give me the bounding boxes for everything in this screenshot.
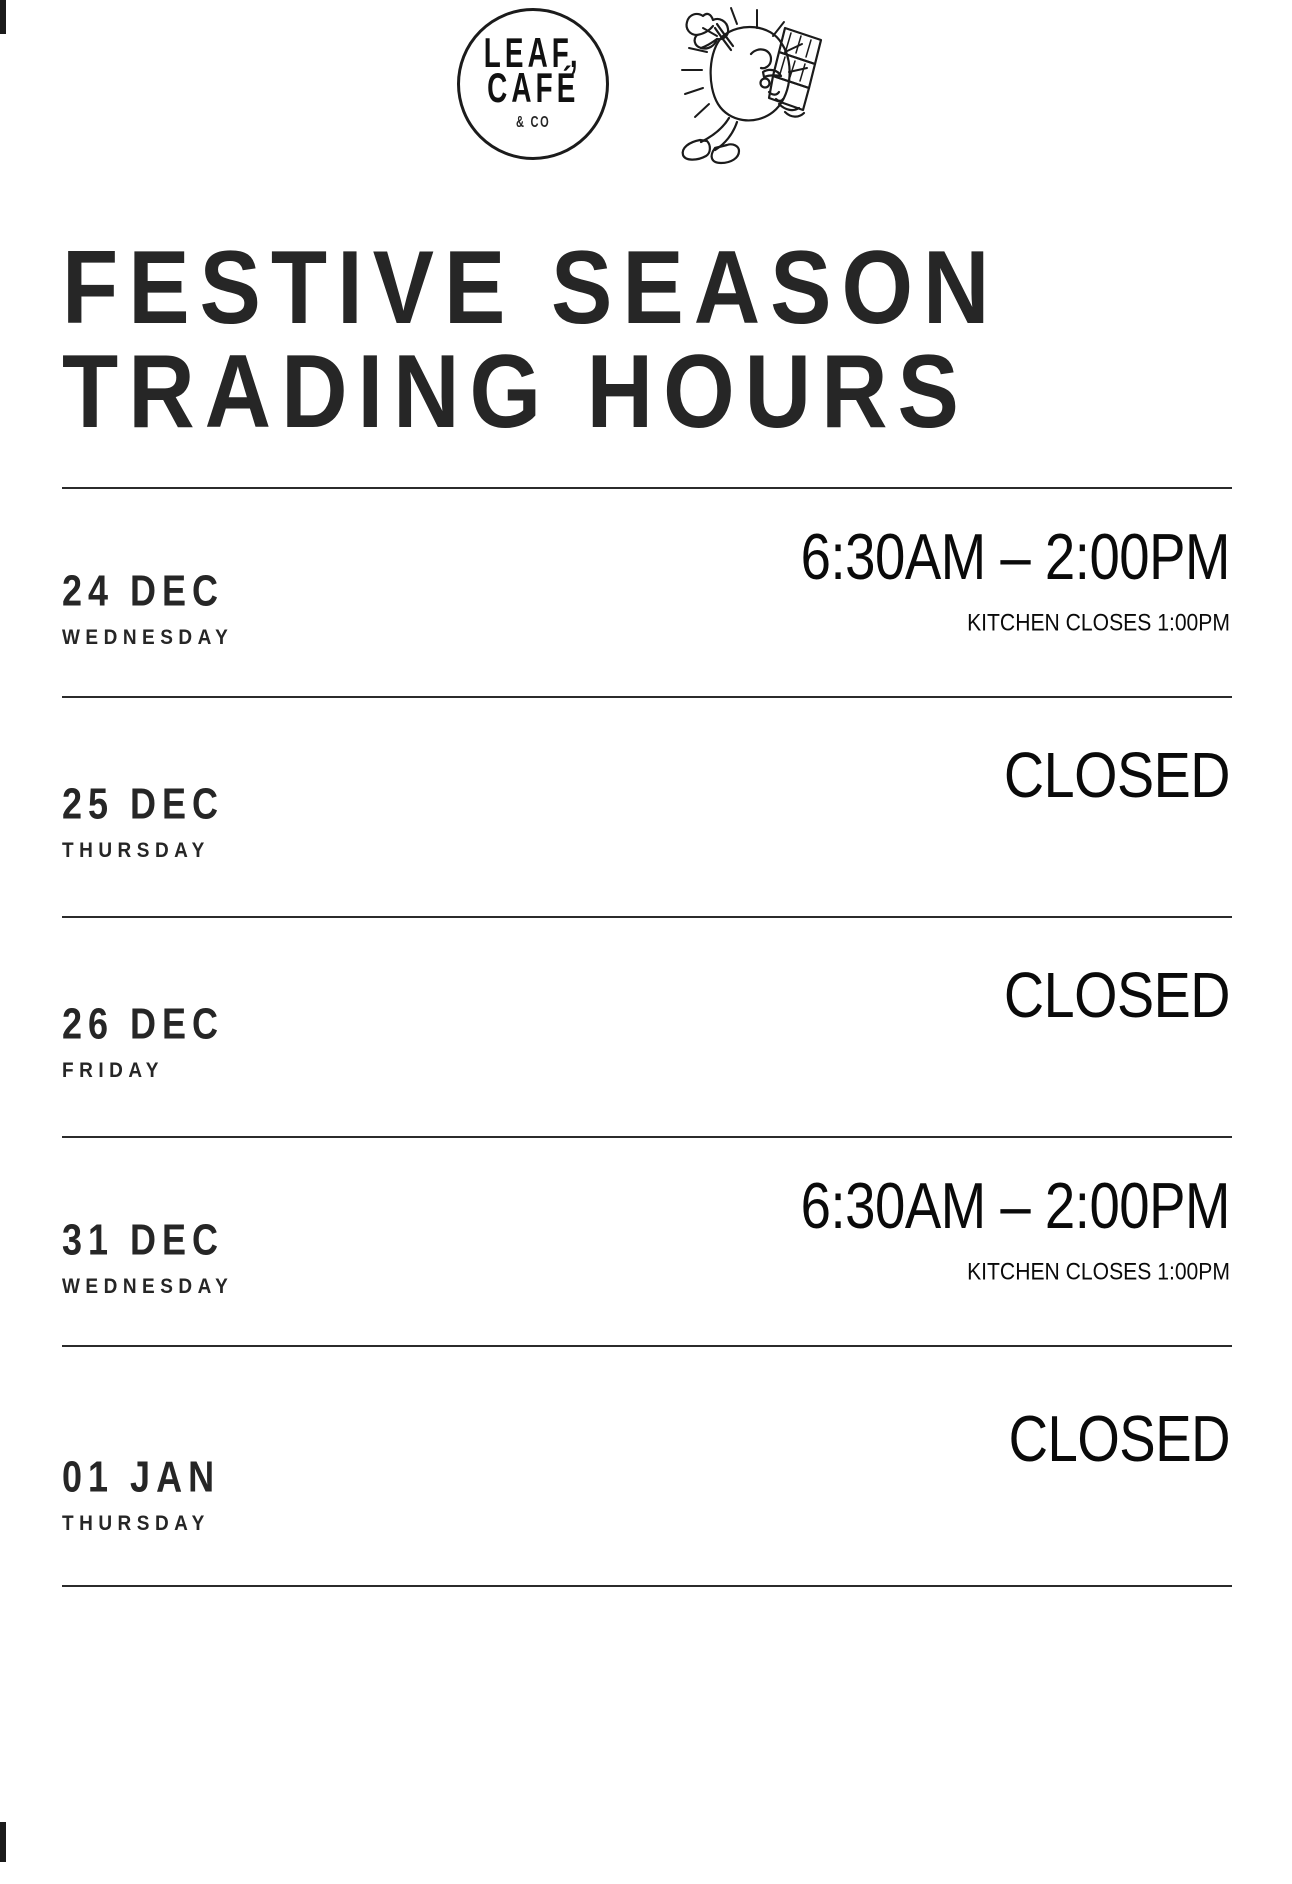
logo-subtext: & CO xyxy=(516,112,550,130)
date-label: 25 DEC xyxy=(62,782,532,826)
hours-label: CLOSED xyxy=(574,1407,1230,1472)
date-cell: 01 JAN THURSDAY xyxy=(62,1407,532,1532)
date-cell: 26 DEC FRIDAY xyxy=(62,964,532,1079)
date-cell: 31 DEC WEDNESDAY xyxy=(62,1174,532,1295)
hours-cell: CLOSED xyxy=(532,1407,1232,1465)
title-line-1: FESTIVE SEASON xyxy=(62,236,1232,342)
title-line-2: TRADING HOURS xyxy=(62,340,1232,446)
kitchen-note: KITCHEN CLOSES 1:00PM xyxy=(560,1260,1230,1284)
hours-cell: 6:30AM – 2:00PM KITCHEN CLOSES 1:00PM xyxy=(532,1174,1232,1282)
date-label: 24 DEC xyxy=(62,569,532,613)
date-label: 01 JAN xyxy=(62,1455,532,1499)
table-row: 01 JAN THURSDAY CLOSED xyxy=(62,1347,1232,1585)
logo-line-2: CAFÉ xyxy=(487,70,579,109)
hours-cell: 6:30AM – 2:00PM KITCHEN CLOSES 1:00PM xyxy=(532,525,1232,633)
crop-mark-bottom-left xyxy=(0,1822,6,1862)
page-title: FESTIVE SEASON TRADING HOURS xyxy=(62,236,1232,434)
leaf-cafe-logo: LEAF, CAFÉ & CO xyxy=(457,8,609,160)
brand-header: LEAF, CAFÉ & CO xyxy=(0,4,1292,176)
hours-label: 6:30AM – 2:00PM xyxy=(574,525,1230,590)
weekday-label: WEDNESDAY xyxy=(62,627,532,648)
hours-label: 6:30AM – 2:00PM xyxy=(574,1174,1230,1239)
sun-mascot-icon xyxy=(645,6,835,166)
date-cell: 24 DEC WEDNESDAY xyxy=(62,525,532,646)
date-cell: 25 DEC THURSDAY xyxy=(62,744,532,859)
date-label: 31 DEC xyxy=(62,1218,532,1262)
date-label: 26 DEC xyxy=(62,1002,532,1046)
weekday-label: FRIDAY xyxy=(62,1060,532,1081)
hours-cell: CLOSED xyxy=(532,744,1232,802)
kitchen-note: KITCHEN CLOSES 1:00PM xyxy=(560,611,1230,635)
hours-label: CLOSED xyxy=(560,744,1230,808)
divider xyxy=(62,1585,1232,1587)
table-row: 25 DEC THURSDAY CLOSED xyxy=(62,698,1232,916)
hours-label: CLOSED xyxy=(560,964,1230,1028)
table-row: 24 DEC WEDNESDAY 6:30AM – 2:00PM KITCHEN… xyxy=(62,489,1232,696)
table-row: 26 DEC FRIDAY CLOSED xyxy=(62,918,1232,1136)
hours-cell: CLOSED xyxy=(532,964,1232,1022)
weekday-label: WEDNESDAY xyxy=(62,1276,532,1297)
weekday-label: THURSDAY xyxy=(62,1513,532,1534)
trading-hours-table: 24 DEC WEDNESDAY 6:30AM – 2:00PM KITCHEN… xyxy=(62,487,1232,1587)
weekday-label: THURSDAY xyxy=(62,840,532,861)
table-row: 31 DEC WEDNESDAY 6:30AM – 2:00PM KITCHEN… xyxy=(62,1138,1232,1345)
